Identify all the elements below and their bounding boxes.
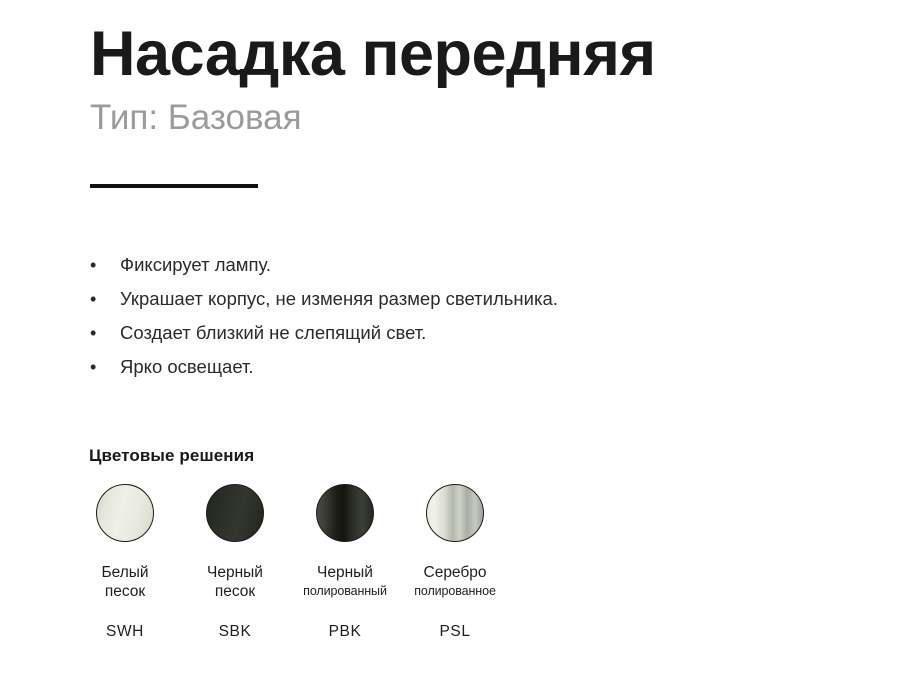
bullet-icon: • (90, 286, 120, 312)
page-title: Насадка передняя (90, 22, 880, 86)
bullet-icon: • (90, 320, 120, 346)
color-option-pbk[interactable]: Черный полированный PBK (290, 484, 400, 641)
color-option-code: PBK (329, 623, 362, 641)
color-option-name: Черный полированный (303, 563, 387, 601)
color-option-name: Серебро полированное (414, 563, 496, 601)
color-name-line2: полированный (303, 582, 387, 601)
color-name-line2: полированное (414, 582, 496, 601)
page-subtitle: Тип: Базовая (90, 100, 880, 137)
color-swatch-icon[interactable] (316, 484, 374, 542)
list-item: • Ярко освещает. (90, 354, 850, 388)
color-option-name: Белый песок (101, 563, 148, 601)
list-item: • Создает близкий не слепящий свет. (90, 320, 850, 354)
product-spec-slide: Насадка передняя Тип: Базовая • Фиксируе… (0, 0, 900, 700)
color-swatch-icon[interactable] (96, 484, 154, 542)
list-item: • Фиксирует лампу. (90, 252, 850, 286)
list-item-label: Фиксирует лампу. (120, 252, 271, 278)
header: Насадка передняя Тип: Базовая (90, 22, 880, 137)
color-swatch-icon[interactable] (206, 484, 264, 542)
color-name-line1: Серебро (414, 563, 496, 582)
color-swatch-icon[interactable] (426, 484, 484, 542)
color-option-swh[interactable]: Белый песок SWH (70, 484, 180, 641)
color-swatch-group: Белый песок SWH Черный песок SBK Черный … (70, 484, 510, 641)
list-item: • Украшает корпус, не изменяя размер све… (90, 286, 850, 320)
bullet-icon: • (90, 252, 120, 278)
color-option-psl[interactable]: Серебро полированное PSL (400, 484, 510, 641)
list-item-label: Украшает корпус, не изменяя размер свети… (120, 286, 558, 312)
color-name-line2: песок (101, 582, 148, 601)
color-name-line1: Черный (207, 563, 263, 582)
color-option-code: SWH (106, 623, 144, 641)
color-option-sbk[interactable]: Черный песок SBK (180, 484, 290, 641)
feature-list: • Фиксирует лампу. • Украшает корпус, не… (90, 252, 850, 388)
color-option-code: PSL (439, 623, 470, 641)
color-option-name: Черный песок (207, 563, 263, 601)
color-name-line1: Черный (303, 563, 387, 582)
color-option-code: SBK (219, 623, 252, 641)
header-divider (90, 184, 258, 188)
color-name-line2: песок (207, 582, 263, 601)
list-item-label: Создает близкий не слепящий свет. (120, 320, 426, 346)
list-item-label: Ярко освещает. (120, 354, 254, 380)
color-name-line1: Белый (101, 563, 148, 582)
colors-section-heading: Цветовые решения (89, 446, 254, 466)
bullet-icon: • (90, 354, 120, 380)
